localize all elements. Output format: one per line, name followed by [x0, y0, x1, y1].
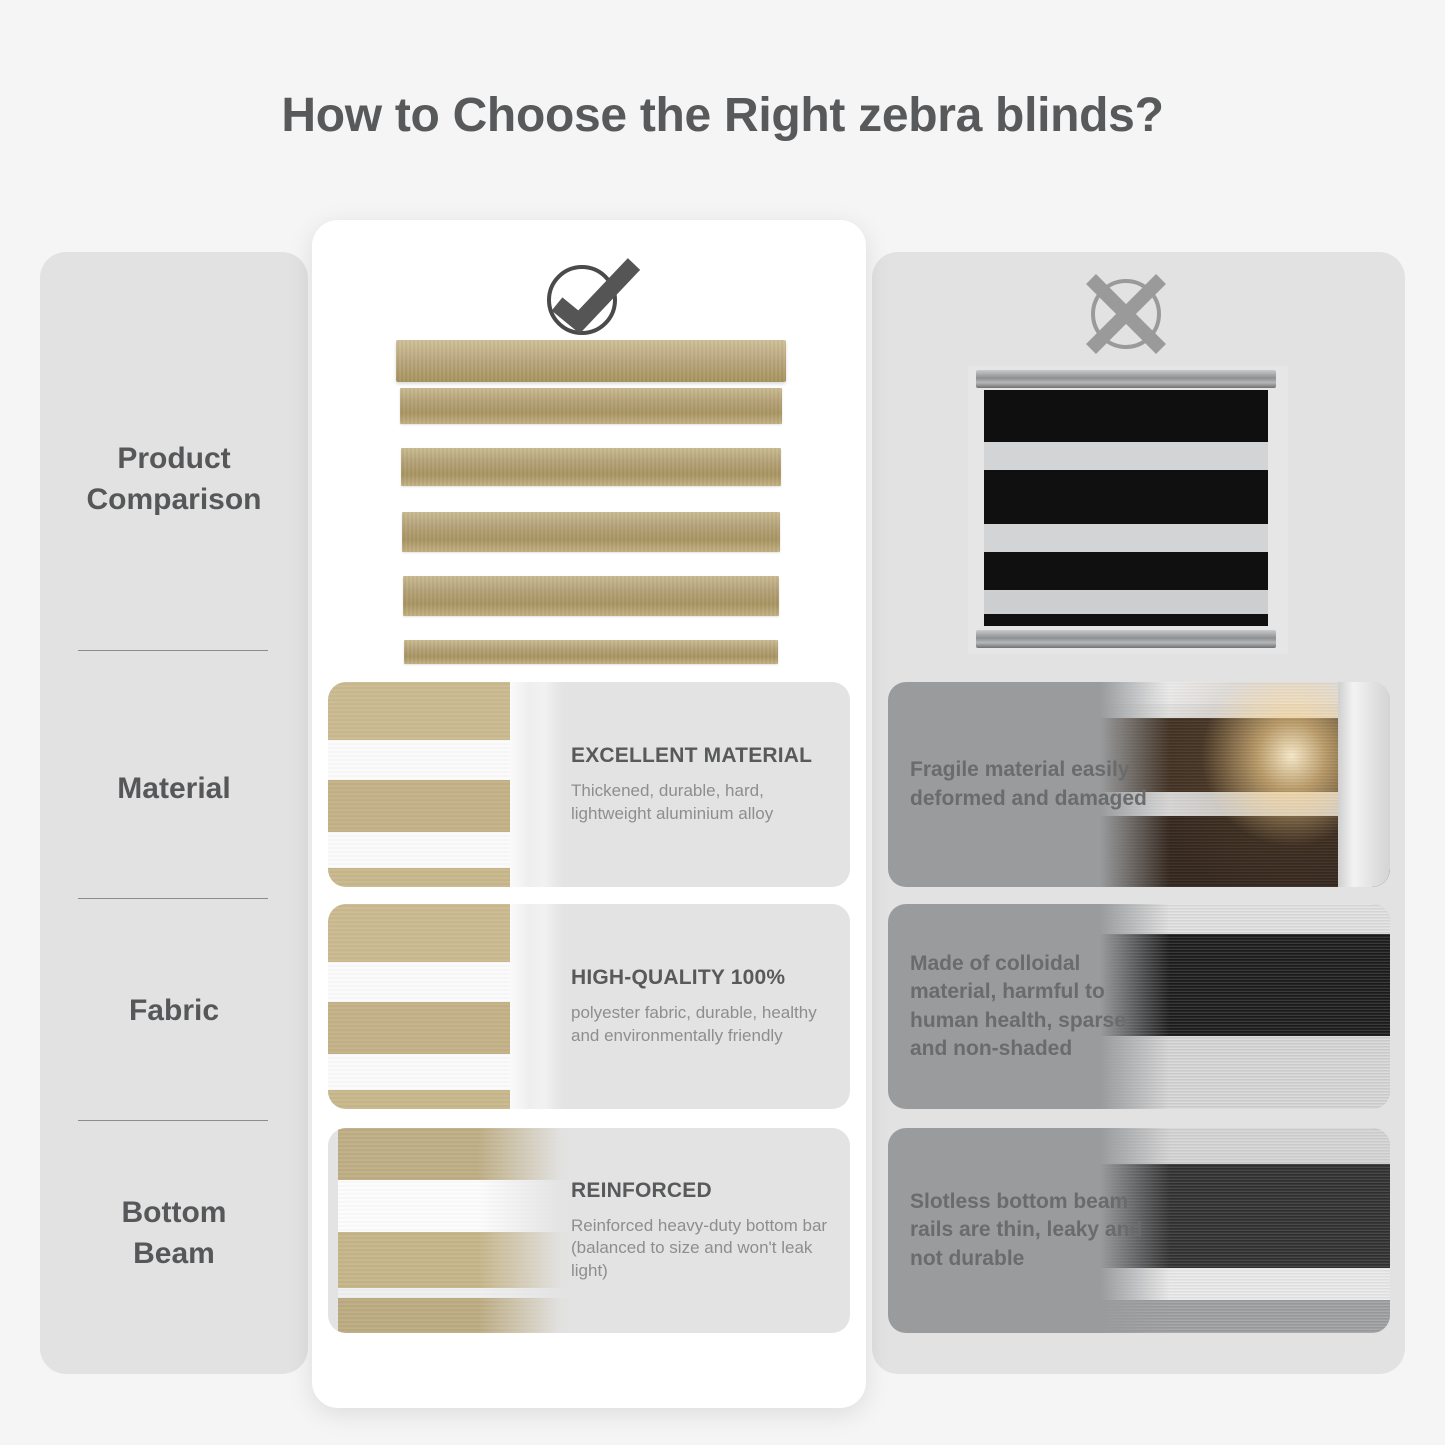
good-feature-text: REINFORCED Reinforced heavy-duty bottom … [571, 1128, 836, 1333]
blind-slat [400, 388, 782, 424]
row-label-line2: Beam [40, 1233, 308, 1274]
feature-body: Reinforced heavy-duty bottom bar (balanc… [571, 1215, 836, 1282]
blind-slat [403, 576, 779, 616]
blind-slat [401, 448, 781, 486]
blind-headrail [976, 370, 1276, 388]
good-material-photo [328, 682, 574, 887]
bad-feature-text: Fragile material easily deformed and dam… [910, 682, 1155, 887]
row-divider-2 [78, 898, 268, 899]
good-product-image [396, 340, 786, 670]
good-feature-card-material: EXCELLENT MATERIAL Thickened, durable, h… [328, 682, 850, 887]
blind-slat [402, 512, 780, 552]
feature-title: HIGH-QUALITY 100% [571, 966, 836, 990]
bad-feature-text: Made of colloidal material, harmful to h… [910, 904, 1155, 1109]
bad-product-image [968, 366, 1288, 654]
row-divider-3 [78, 1120, 268, 1121]
good-feature-text: HIGH-QUALITY 100% polyester fabric, dura… [571, 904, 836, 1109]
good-feature-card-fabric: HIGH-QUALITY 100% polyester fabric, dura… [328, 904, 850, 1109]
feature-body: polyester fabric, durable, healthy and e… [571, 1002, 836, 1047]
good-bottom-beam-photo [328, 1128, 574, 1333]
row-label-line1: Material [40, 768, 308, 809]
blind-fabric [984, 390, 1268, 626]
feature-body: Thickened, durable, hard, lightweight al… [571, 780, 836, 825]
good-fabric-photo [328, 904, 574, 1109]
row-divider-1 [78, 650, 268, 651]
row-label-material: Material [40, 768, 308, 809]
row-label-line1: Fabric [40, 990, 308, 1031]
cross-circle-icon [1078, 266, 1174, 362]
good-feature-text: EXCELLENT MATERIAL Thickened, durable, h… [571, 682, 836, 887]
row-label-line1: Product [40, 438, 308, 479]
blind-bottom-bar [976, 630, 1276, 648]
row-label-line2: Comparison [40, 479, 308, 520]
page-title: How to Choose the Right zebra blinds? [0, 88, 1445, 143]
check-circle-icon [535, 252, 645, 342]
row-label-line1: Bottom [40, 1192, 308, 1233]
bad-feature-text: Slotless bottom beam rails are thin, lea… [910, 1128, 1155, 1333]
bad-feature-card-material: Fragile material easily deformed and dam… [888, 682, 1390, 887]
row-label-bottom-beam: Bottom Beam [40, 1192, 308, 1274]
feature-title: REINFORCED [571, 1179, 836, 1203]
good-feature-card-bottom-beam: REINFORCED Reinforced heavy-duty bottom … [328, 1128, 850, 1333]
row-label-product-comparison: Product Comparison [40, 438, 308, 520]
feature-title: EXCELLENT MATERIAL [571, 744, 836, 768]
blind-bottom-bar [404, 640, 778, 664]
blind-headrail [396, 340, 786, 382]
bad-feature-card-bottom-beam: Slotless bottom beam rails are thin, lea… [888, 1128, 1390, 1333]
bad-feature-card-fabric: Made of colloidal material, harmful to h… [888, 904, 1390, 1109]
row-label-fabric: Fabric [40, 990, 308, 1031]
